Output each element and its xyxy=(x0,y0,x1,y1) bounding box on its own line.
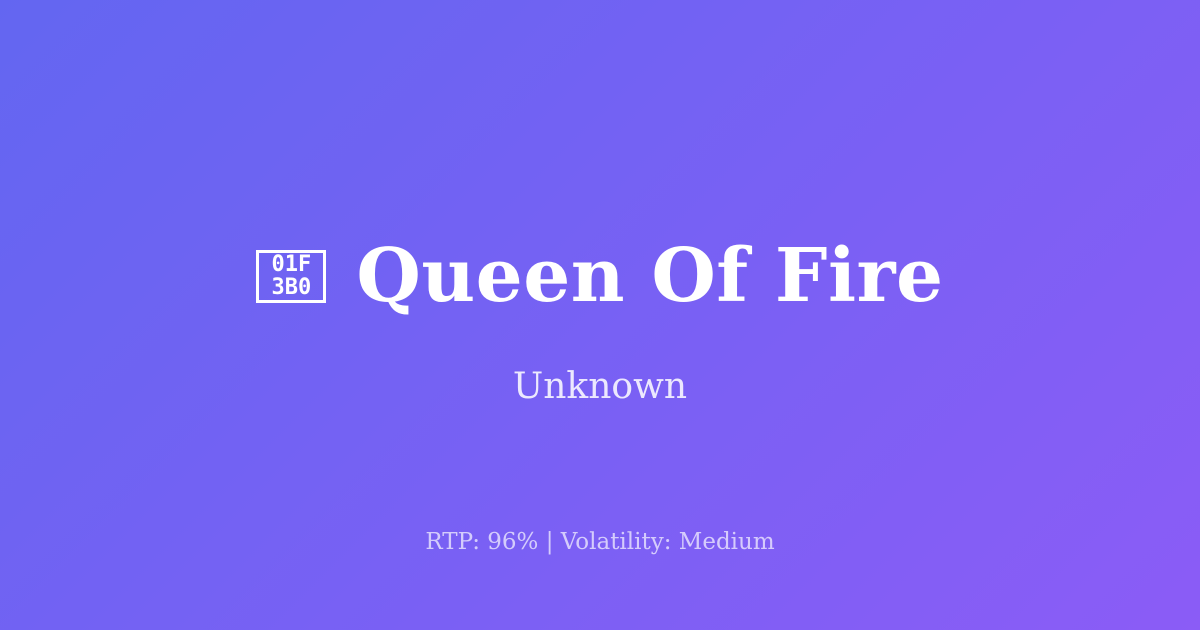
game-meta-line: RTP: 96% | Volatility: Medium xyxy=(0,527,1200,557)
slot-machine-icon: 01F 3B0 xyxy=(256,250,326,303)
game-title: Queen Of Fire xyxy=(356,234,943,318)
tofu-codepoint-line-2: 3B0 xyxy=(271,276,311,299)
game-provider: Unknown xyxy=(0,364,1200,410)
title-row: 01F 3B0 Queen Of Fire xyxy=(0,232,1200,320)
game-og-card: 01F 3B0 Queen Of Fire Unknown RTP: 96% |… xyxy=(0,0,1200,630)
tofu-codepoint-line-1: 01F xyxy=(271,253,311,276)
